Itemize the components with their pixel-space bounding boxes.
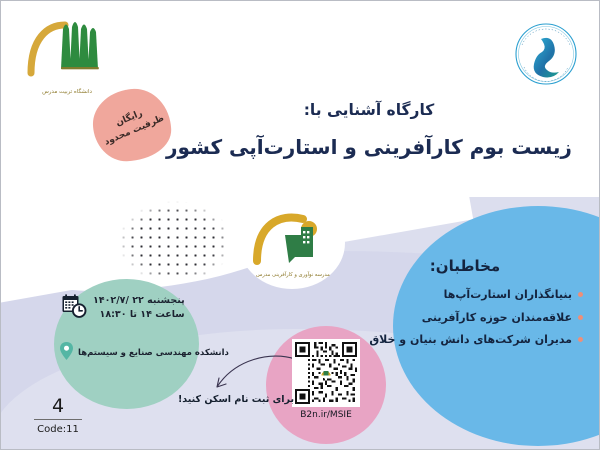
school-logo-caption: مدرسه نوآوری و کارآفرینی مدرس <box>241 272 345 279</box>
qr-short-url[interactable]: B2n.ir/MSIE <box>288 410 364 420</box>
poster-code-label: Code:11 <box>23 424 93 435</box>
calendar-clock-icon <box>61 293 87 323</box>
event-date: پنجشنبه ۲۲ /۱۴۰۲/۷ <box>93 294 185 308</box>
audience-section: مخاطبان: بنیانگذاران استارت‌آپ‌ها علاقه‌… <box>353 257 583 357</box>
scan-to-register-cta: برای ثبت نام اسکن کنید! <box>177 394 295 405</box>
list-item: مدیران شرکت‌های دانش بنیان و خلاق <box>353 334 583 346</box>
event-datetime: پنجشنبه ۲۲ /۱۴۰۲/۷ ساعت ۱۴ تا ۱۸:۳۰ <box>61 293 186 323</box>
audience-item-label: مدیران شرکت‌های دانش بنیان و خلاق <box>369 334 572 346</box>
workshop-poster: دانشگاه تربیت مدرس رایگان ظرفیت محدود <box>0 0 600 450</box>
list-item: علاقه‌مندان حوزه کارآفرینی <box>353 312 583 324</box>
poster-subtitle: کارگاه آشنایی با: <box>159 101 579 119</box>
audience-item-label: بنیانگذاران استارت‌آپ‌ها <box>444 289 572 301</box>
footer-code-block: 4 Code:11 <box>23 397 93 435</box>
event-place: دانشکده مهندسی صنایع و سیستم‌ها <box>59 341 189 365</box>
event-time: ساعت ۱۴ تا ۱۸:۳۰ <box>93 308 185 322</box>
modares-innovation-school-logo: مدرسه نوآوری و کارآفرینی مدرس <box>247 205 339 281</box>
audience-item-label: علاقه‌مندان حوزه کارآفرینی <box>422 312 572 324</box>
page-title: زیست بوم کارآفرینی و استارت‌آپی کشور <box>159 135 579 159</box>
audience-list: بنیانگذاران استارت‌آپ‌ها علاقه‌مندان حوز… <box>353 289 583 346</box>
bullet-dot-icon <box>578 292 583 297</box>
poster-heading: کارگاه آشنایی با: زیست بوم کارآفرینی و ا… <box>159 101 579 159</box>
university-name-line1: دانشگاه تربیت مدرس <box>19 89 115 97</box>
bullet-dot-icon <box>578 315 583 320</box>
bullet-dot-icon <box>578 337 583 342</box>
qr-registration-block[interactable]: B2n.ir/MSIE <box>288 339 364 420</box>
list-item: بنیانگذاران استارت‌آپ‌ها <box>353 289 583 301</box>
qr-code[interactable] <box>292 339 360 407</box>
tarbiat-modares-university-logo: دانشگاه تربیت مدرس <box>19 15 115 95</box>
audience-title: مخاطبان: <box>353 257 583 275</box>
circular-seal-logo <box>507 15 585 93</box>
halftone-dot-pattern <box>101 197 229 275</box>
poster-number: 4 <box>34 397 82 420</box>
location-pin-icon <box>59 341 74 365</box>
